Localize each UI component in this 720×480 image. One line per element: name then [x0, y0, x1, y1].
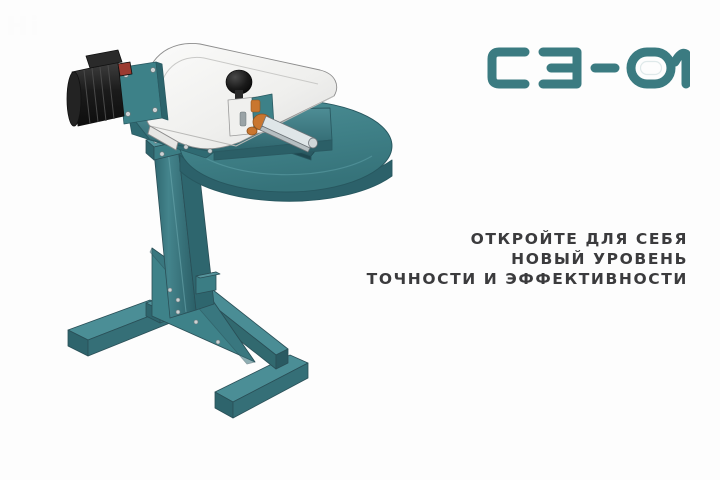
tagline-block: ОТКРОЙТЕ ДЛЯ СЕБЯ НОВЫЙ УРОВЕНЬ ТОЧНОСТИ… [318, 229, 688, 289]
tagline-line-2: НОВЫЙ УРОВЕНЬ [318, 249, 688, 269]
tagline-line-3: ТОЧНОСТИ И ЭФФЕКТИВНОСТИ [318, 269, 688, 289]
product-illustration [0, 0, 440, 440]
tagline-line-1: ОТКРОЙТЕ ДЛЯ СЕБЯ [318, 229, 688, 249]
poster-canvas: Hi [0, 0, 720, 480]
product-logo: СЗ-01 [485, 42, 690, 94]
